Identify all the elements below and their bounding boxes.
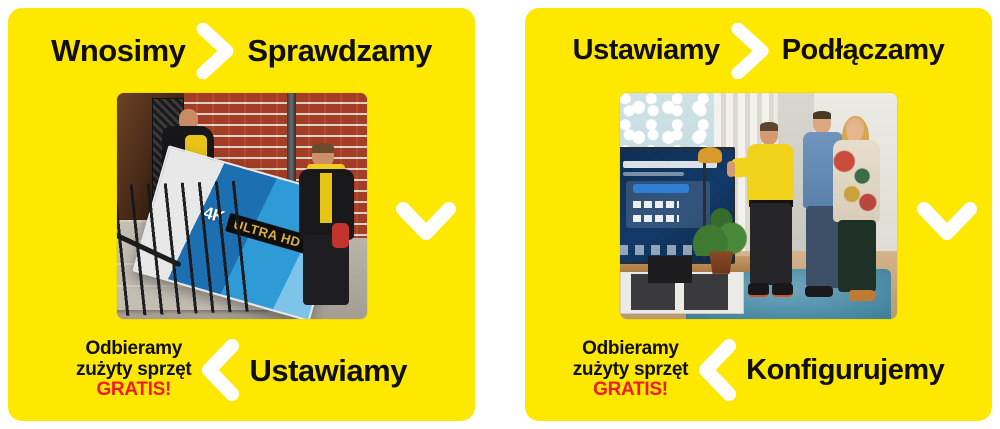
courier-lower — [294, 143, 359, 310]
panel-left: Wnosimy Sprawdzamy — [8, 8, 475, 421]
pickup-line-1: Odbieramy — [582, 338, 679, 359]
panel-left-photo: 4K ULTRA HD — [117, 93, 367, 319]
chevron-left-icon — [696, 339, 738, 401]
pickup-line-2: zużyty sprzęt — [573, 359, 688, 380]
step-label-ustawiamy-final: Ustawiamy — [249, 355, 406, 386]
panel-right-bottom: Odbieramy zużyty sprzęt GRATIS! Konfigur… — [525, 319, 992, 421]
pickup-line-2: zużyty sprzęt — [76, 359, 191, 380]
step-label-sprawdzamy: Sprawdzamy — [247, 35, 432, 66]
free-pickup-note-left: Odbieramy zużyty sprzęt GRATIS! — [76, 339, 191, 401]
step-label-ustawiamy: Ustawiamy — [573, 36, 720, 65]
chevron-down-icon — [916, 200, 978, 244]
service-steps-banner: Wnosimy Sprawdzamy — [0, 0, 1000, 429]
free-pickup-note-right: Odbieramy zużyty sprzęt GRATIS! — [573, 339, 688, 401]
customer-woman-figure — [833, 118, 880, 303]
panel-right: Ustawiamy Podłączamy — [525, 8, 992, 421]
chevron-right-icon — [730, 23, 772, 79]
technician-figure — [747, 122, 794, 298]
step-label-wnosimy: Wnosimy — [51, 35, 185, 66]
panel-left-bottom: Odbieramy zużyty sprzęt GRATIS! Ustawiam… — [8, 319, 475, 421]
step-label-podlaczamy: Podłączamy — [782, 36, 945, 65]
panel-right-photo — [620, 93, 897, 319]
pickup-line-1: Odbieramy — [85, 338, 182, 359]
step-label-konfigurujemy: Konfigurujemy — [746, 356, 944, 385]
panel-right-top-steps: Ustawiamy Podłączamy — [525, 8, 992, 93]
photo-couriers-carrying-tv: 4K ULTRA HD — [117, 93, 367, 319]
pickup-free-label: GRATIS! — [573, 380, 688, 401]
chevron-down-icon — [395, 200, 457, 244]
chevron-right-icon — [195, 23, 237, 79]
panel-left-top-steps: Wnosimy Sprawdzamy — [8, 8, 475, 93]
chevron-left-icon — [199, 339, 241, 401]
pickup-free-label: GRATIS! — [76, 380, 191, 401]
photo-technician-configuring-tv — [620, 93, 897, 319]
